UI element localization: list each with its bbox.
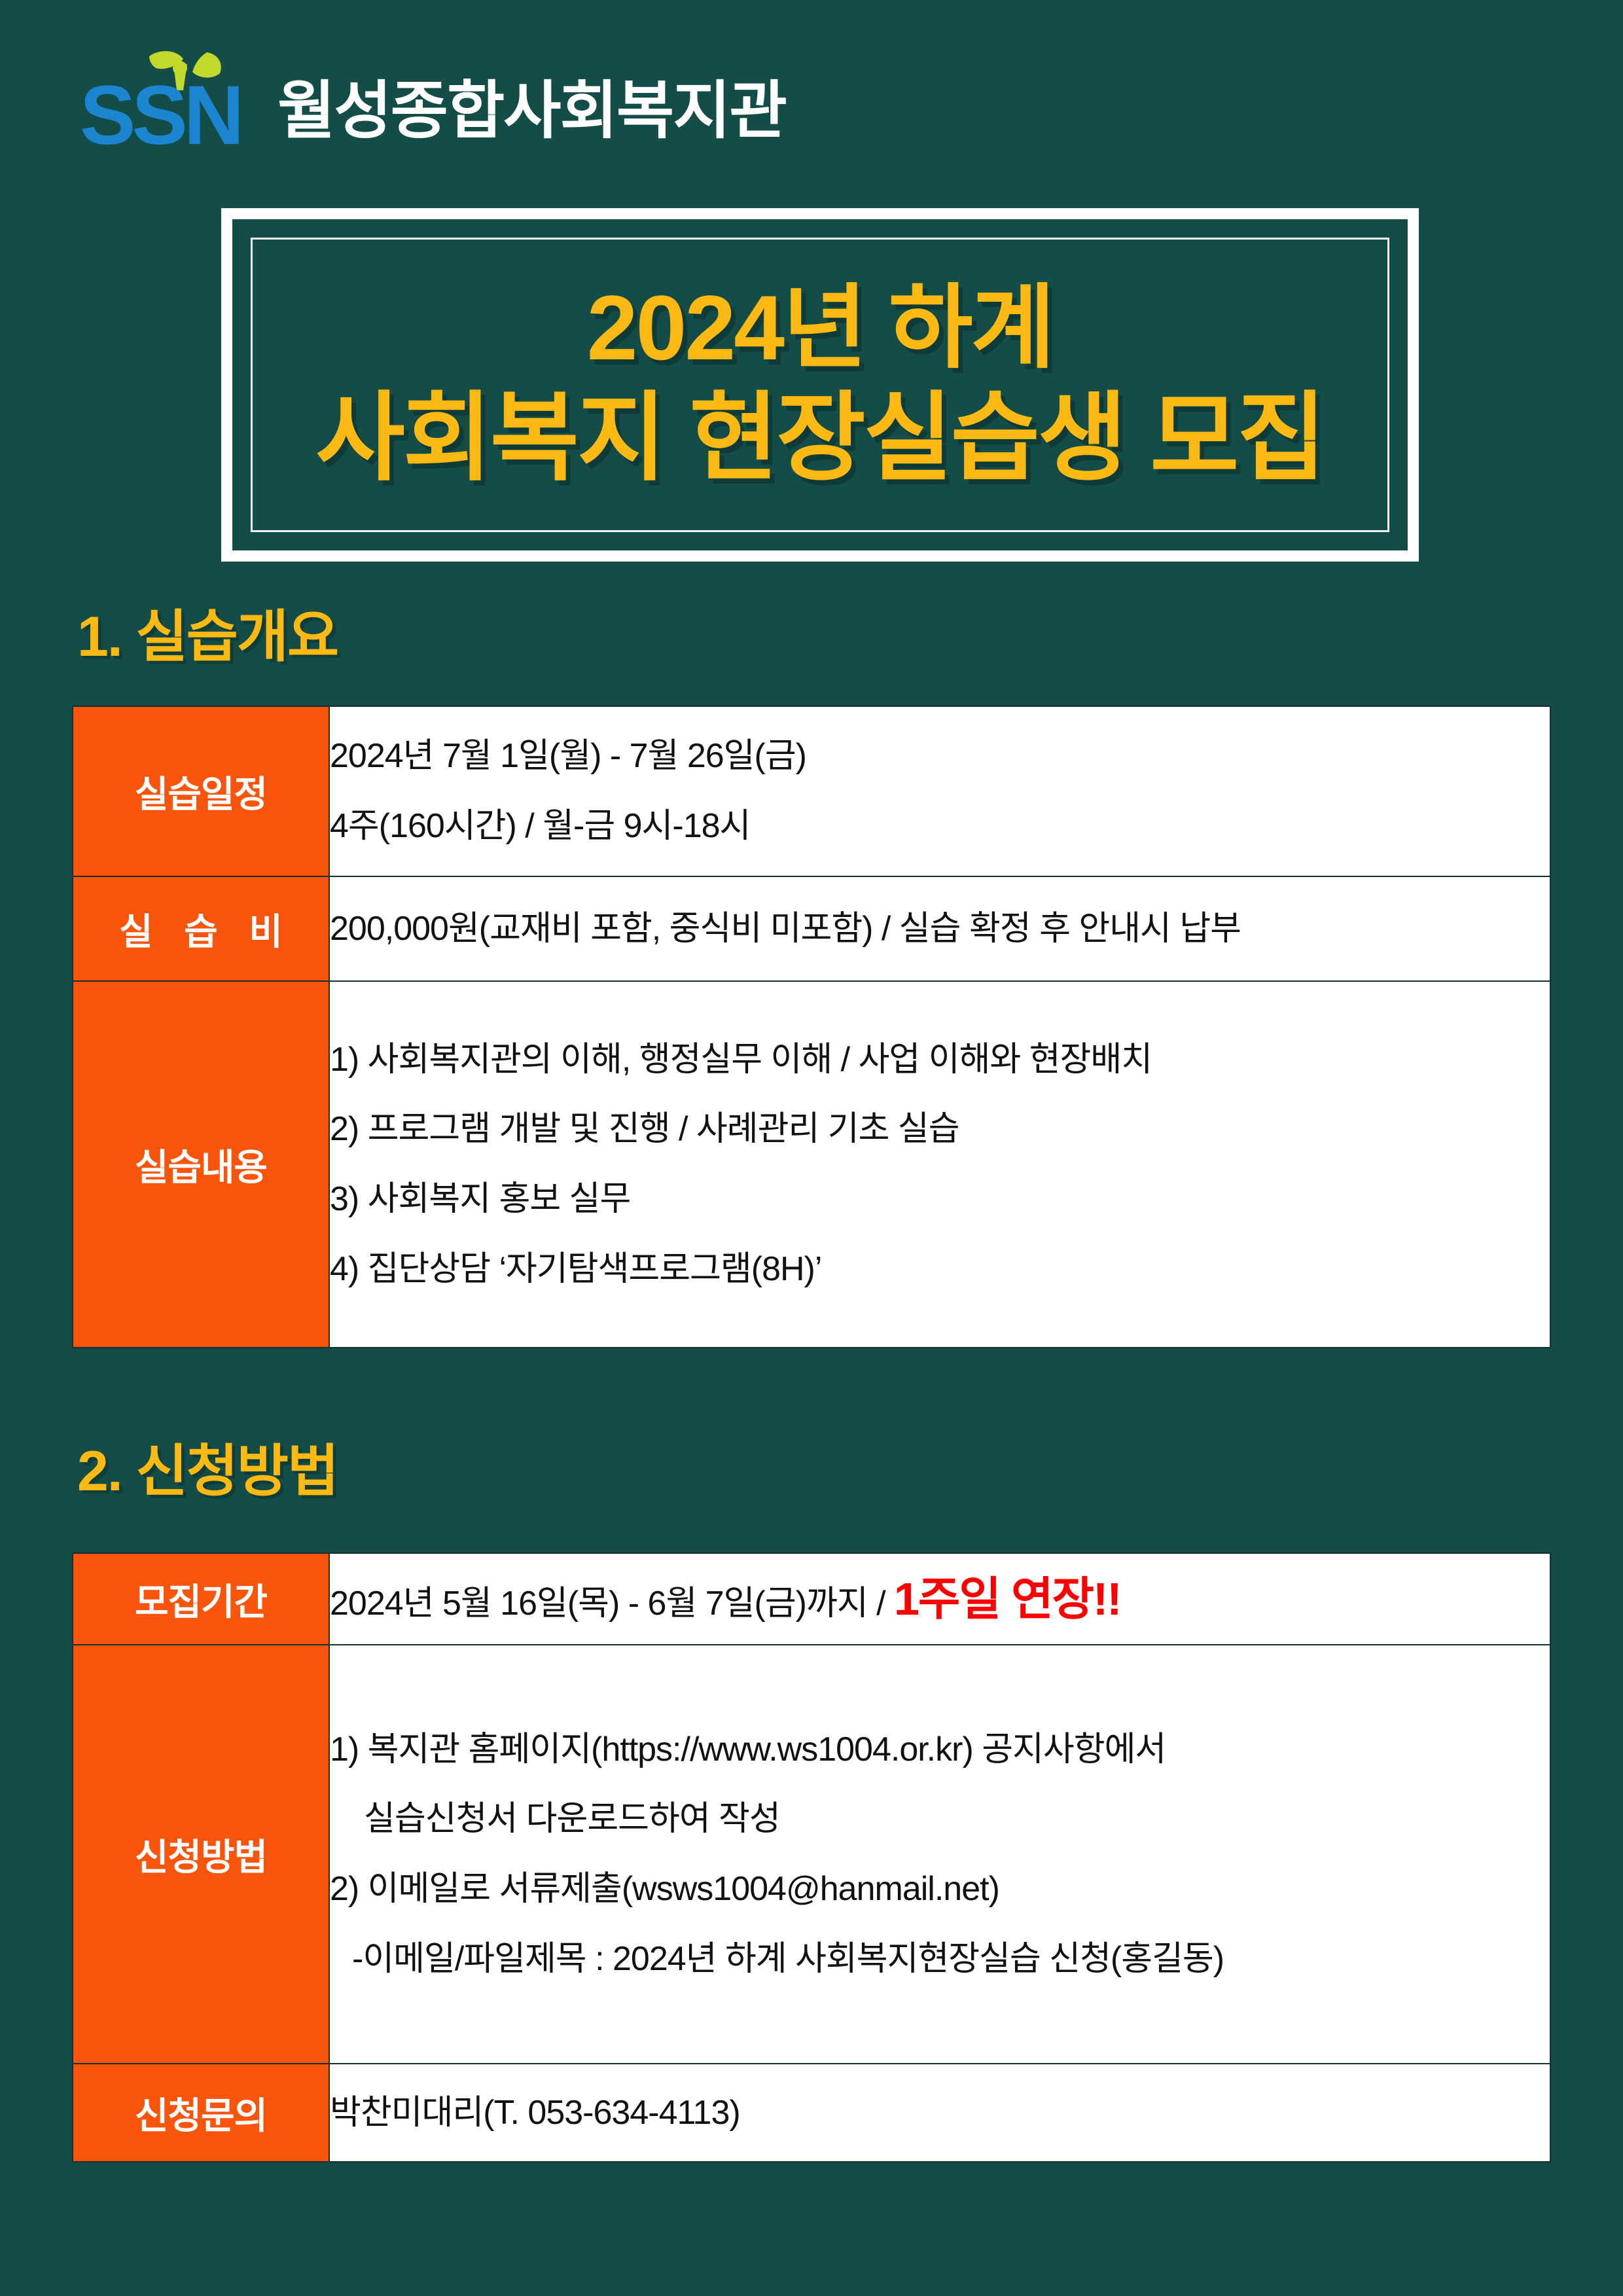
ssn-logo-svg: SSN: [79, 45, 268, 156]
row-label-inquiry: 신청문의: [73, 2064, 329, 2162]
row-label-contents: 실습내용: [73, 981, 329, 1348]
table-row: 실 습 비 200,000원(교재비 포함, 중식비 미포함) / 실습 확정 …: [73, 876, 1550, 981]
content-item-3: 3) 사회복지 홍보 실무: [330, 1173, 1550, 1226]
schedule-dates: 2024년 7월 1일(월) - 7월 26일(금): [330, 730, 1550, 783]
row-label-method: 신청방법: [73, 1645, 329, 2064]
row-label-fee: 실 습 비: [73, 876, 329, 981]
ssn-logo-letters: SSN: [80, 69, 240, 156]
row-label-schedule: 실습일정: [73, 706, 329, 876]
section-heading-application: 2. 신청방법: [77, 1443, 338, 1499]
content-item-2: 2) 프로그램 개발 및 진행 / 사례관리 기초 실습: [330, 1103, 1550, 1156]
table-row: 신청문의 박찬미대리(T. 053-634-4113): [73, 2064, 1550, 2162]
table-row: 실습일정 2024년 7월 1일(월) - 7월 26일(금) 4주(160시간…: [73, 706, 1550, 876]
poster-title-line-2: 사회복지 현장실습생 모집: [316, 382, 1325, 496]
table-row: 실습내용 1) 사회복지관의 이해, 행정실무 이해 / 사업 이해와 현장배치…: [73, 981, 1550, 1348]
row-label-period: 모집기간: [73, 1553, 329, 1645]
method-item-2-sub: -이메일/파일제목 : 2024년 하계 사회복지현장실습 신청(홍길동): [330, 1933, 1550, 1986]
application-method-table: 모집기간 2024년 5월 16일(목) - 6월 7일(금)까지 / 1주일 …: [72, 1552, 1551, 2162]
period-extension-badge: 1주일 연장!!: [894, 1573, 1121, 1624]
row-content-period: 2024년 5월 16일(목) - 6월 7일(금)까지 / 1주일 연장!!: [329, 1553, 1550, 1645]
internship-overview-table: 실습일정 2024년 7월 1일(월) - 7월 26일(금) 4주(160시간…: [72, 706, 1551, 1348]
title-banner: 2024년 하계 사회복지 현장실습생 모집: [221, 208, 1419, 562]
method-item-1-sub: 실습신청서 다운로드하여 작성: [330, 1793, 1550, 1846]
content-item-1: 1) 사회복지관의 이해, 행정실무 이해 / 사업 이해와 현장배치: [330, 1033, 1550, 1086]
section-heading-overview: 1. 실습개요: [77, 609, 338, 665]
inquiry-contact: 박찬미대리(T. 053-634-4113): [330, 2087, 1550, 2140]
period-dates: 2024년 5월 16일(목) - 6월 7일(금)까지 /: [330, 1585, 894, 1623]
title-banner-inner-frame: 2024년 하계 사회복지 현장실습생 모집: [251, 238, 1389, 532]
period-line: 2024년 5월 16일(목) - 6월 7일(금)까지 / 1주일 연장!!: [330, 1564, 1550, 1635]
poster-title-line-1: 2024년 하계: [587, 274, 1054, 382]
ssn-logo: SSN: [79, 45, 268, 156]
method-item-1: 1) 복지관 홈페이지(https://www.ws1004.or.kr) 공지…: [330, 1723, 1550, 1776]
fee-detail: 200,000원(교재비 포함, 중식비 미포함) / 실습 확정 후 안내시 …: [330, 903, 1550, 956]
row-content-method: 1) 복지관 홈페이지(https://www.ws1004.or.kr) 공지…: [329, 1645, 1550, 2064]
row-content-inquiry: 박찬미대리(T. 053-634-4113): [329, 2064, 1550, 2162]
row-content-schedule: 2024년 7월 1일(월) - 7월 26일(금) 4주(160시간) / 월…: [329, 706, 1550, 876]
schedule-hours: 4주(160시간) / 월-금 9시-18시: [330, 800, 1550, 853]
row-content-fee: 200,000원(교재비 포함, 중식비 미포함) / 실습 확정 후 안내시 …: [329, 876, 1550, 981]
method-item-2: 2) 이메일로 서류제출(wsws1004@hanmail.net): [330, 1863, 1550, 1916]
table-row: 모집기간 2024년 5월 16일(목) - 6월 7일(금)까지 / 1주일 …: [73, 1553, 1550, 1645]
table-row: 신청방법 1) 복지관 홈페이지(https://www.ws1004.or.k…: [73, 1645, 1550, 2064]
row-content-contents: 1) 사회복지관의 이해, 행정실무 이해 / 사업 이해와 현장배치 2) 프…: [329, 981, 1550, 1348]
organization-name: 월성종합사회복지관: [277, 80, 786, 156]
poster-header: SSN 월성종합사회복지관: [79, 45, 786, 156]
content-item-4: 4) 집단상담 ‘자기탐색프로그램(8H)’: [330, 1243, 1550, 1296]
